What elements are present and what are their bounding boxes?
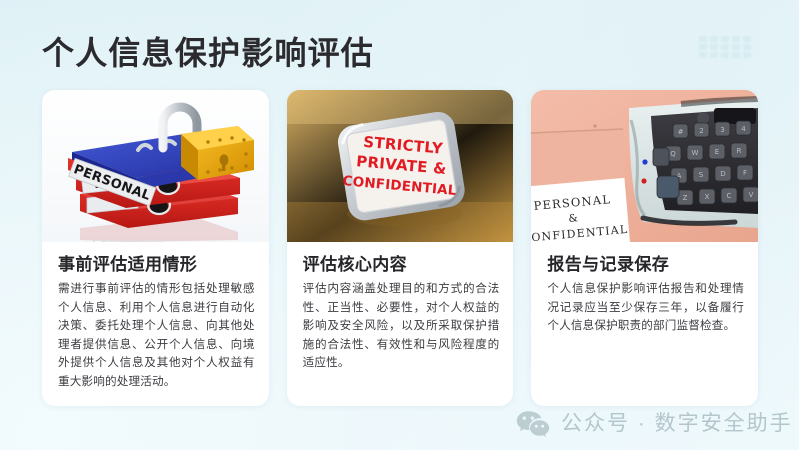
page-title: 个人信息保护影响评估 bbox=[42, 31, 374, 75]
card-report-and-record-retention[interactable]: PERSONAL & CONFIDENTIAL bbox=[531, 90, 758, 406]
card-text: 评估内容涵盖处理目的和方式的合法性、正当性、必要性，对个人权益的影响及安全风险，… bbox=[303, 280, 500, 373]
watermark-text: 公众号 · 数字安全助手 bbox=[561, 410, 793, 438]
svg-text:S: S bbox=[699, 171, 704, 179]
svg-text:E: E bbox=[715, 148, 719, 156]
card-heading: 事前评估适用情形 bbox=[58, 253, 255, 277]
typewriter-with-confidential-page-image: PERSONAL & CONFIDENTIAL bbox=[531, 90, 758, 242]
svg-text:R: R bbox=[737, 147, 742, 155]
svg-text:V: V bbox=[749, 191, 754, 199]
confidential-rubber-stamp-image: STRICTLY PRIVATE & CONFIDENTIAL bbox=[287, 90, 514, 242]
svg-text:2: 2 bbox=[700, 127, 704, 135]
svg-text:X: X bbox=[705, 193, 710, 201]
card-row: DATA PERSONAL bbox=[42, 90, 758, 406]
svg-text:C: C bbox=[727, 192, 732, 200]
svg-text:Q: Q bbox=[671, 150, 677, 158]
card-body: 评估核心内容 评估内容涵盖处理目的和方式的合法性、正当性、必要性，对个人权益的影… bbox=[287, 242, 514, 406]
svg-text:4: 4 bbox=[742, 125, 747, 133]
svg-text:Z: Z bbox=[683, 194, 688, 202]
card-text: 个人信息保护影响评估报告和处理情况记录应当至少保存三年，以备履行个人信息保护职责… bbox=[547, 280, 744, 336]
personal-data-binders-with-padlock-image: DATA PERSONAL bbox=[42, 90, 269, 242]
svg-text:W: W bbox=[692, 149, 699, 157]
slide-canvas: 个人信息保护影响评估 bbox=[0, 0, 799, 450]
card-text: 需进行事前评估的情形包括处理敏感个人信息、利用个人信息进行自动化决策、委托处理个… bbox=[58, 280, 255, 392]
background-texture-marks bbox=[699, 36, 751, 58]
card-assessment-core-content[interactable]: STRICTLY PRIVATE & CONFIDENTIAL 评估核心内容 评… bbox=[287, 90, 514, 406]
svg-text:&: & bbox=[568, 212, 580, 225]
card-heading: 评估核心内容 bbox=[303, 253, 500, 277]
svg-text:F: F bbox=[743, 169, 747, 177]
svg-text:D: D bbox=[721, 170, 726, 178]
svg-text:3: 3 bbox=[721, 126, 725, 134]
card-pre-assessment-scenarios[interactable]: DATA PERSONAL bbox=[42, 90, 269, 406]
watermark: 公众号 · 数字安全助手 bbox=[516, 410, 793, 438]
card-heading: 报告与记录保存 bbox=[547, 253, 744, 277]
wechat-icon bbox=[516, 410, 550, 438]
svg-text:#: # bbox=[678, 128, 684, 136]
card-body: 报告与记录保存 个人信息保护影响评估报告和处理情况记录应当至少保存三年，以备履行… bbox=[531, 242, 758, 406]
card-body: 事前评估适用情形 需进行事前评估的情形包括处理敏感个人信息、利用个人信息进行自动… bbox=[42, 242, 269, 406]
svg-text:PERSONAL: PERSONAL bbox=[92, 237, 164, 242]
